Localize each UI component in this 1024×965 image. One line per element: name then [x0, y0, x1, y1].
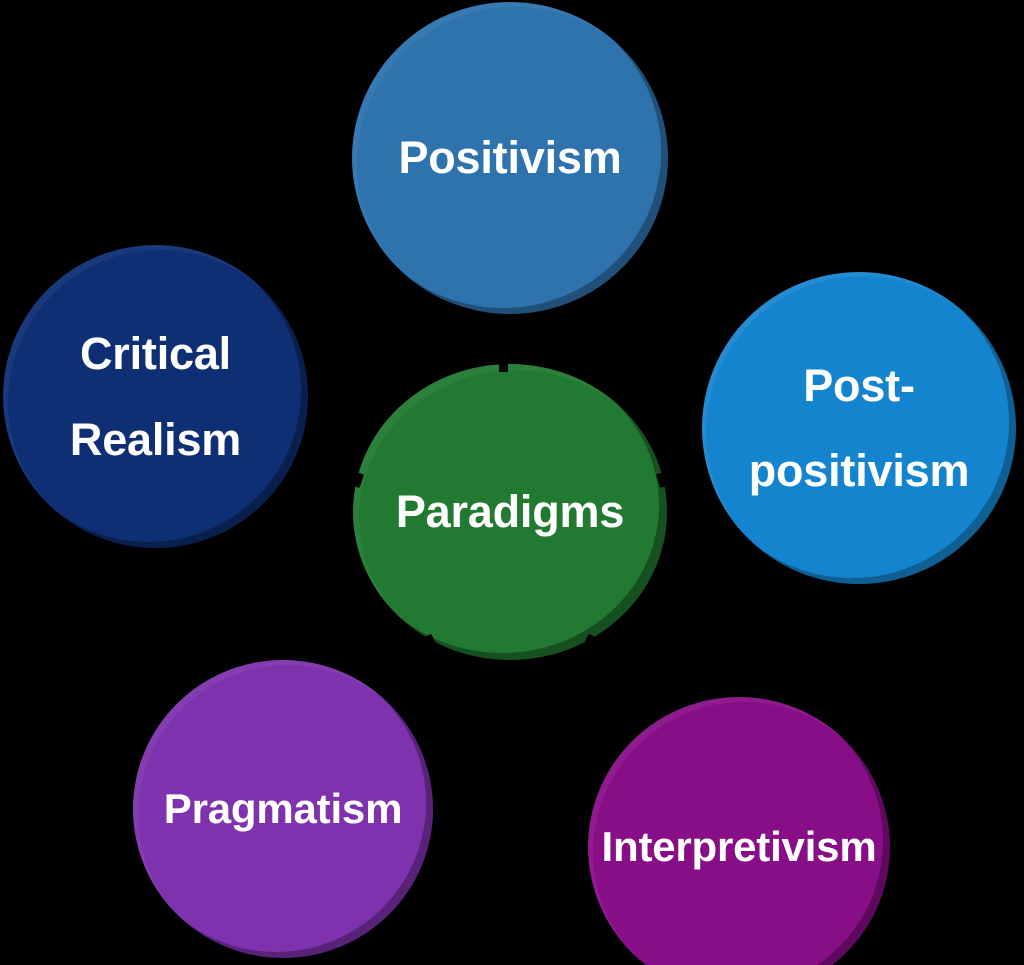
node-pragmatism[interactable]: Pragmatism [133, 660, 433, 958]
node-paradigms-label: Paradigms [396, 480, 624, 544]
ring-notch-bottom-right [582, 634, 597, 651]
node-positivism[interactable]: Positivism [352, 2, 668, 314]
ring-notch-top [499, 363, 508, 372]
node-post-positivism-label: Post- positivism [749, 343, 970, 514]
paradigms-diagram: Positivism Critical Realism Post- positi… [0, 0, 1024, 965]
node-positivism-label: Positivism [398, 126, 621, 190]
node-paradigms-center[interactable]: Paradigms [353, 364, 667, 660]
node-post-positivism[interactable]: Post- positivism [702, 272, 1016, 584]
ring-notch-left [352, 472, 364, 488]
node-pragmatism-label: Pragmatism [164, 779, 402, 839]
node-interpretivism[interactable]: Interpretivism [588, 697, 890, 965]
ring-notch-right [656, 472, 668, 488]
node-critical-realism[interactable]: Critical Realism [3, 245, 308, 548]
node-interpretivism-label: Interpretivism [602, 817, 877, 877]
node-critical-realism-label: Critical Realism [70, 311, 241, 482]
ring-notch-bottom-left [423, 634, 438, 651]
